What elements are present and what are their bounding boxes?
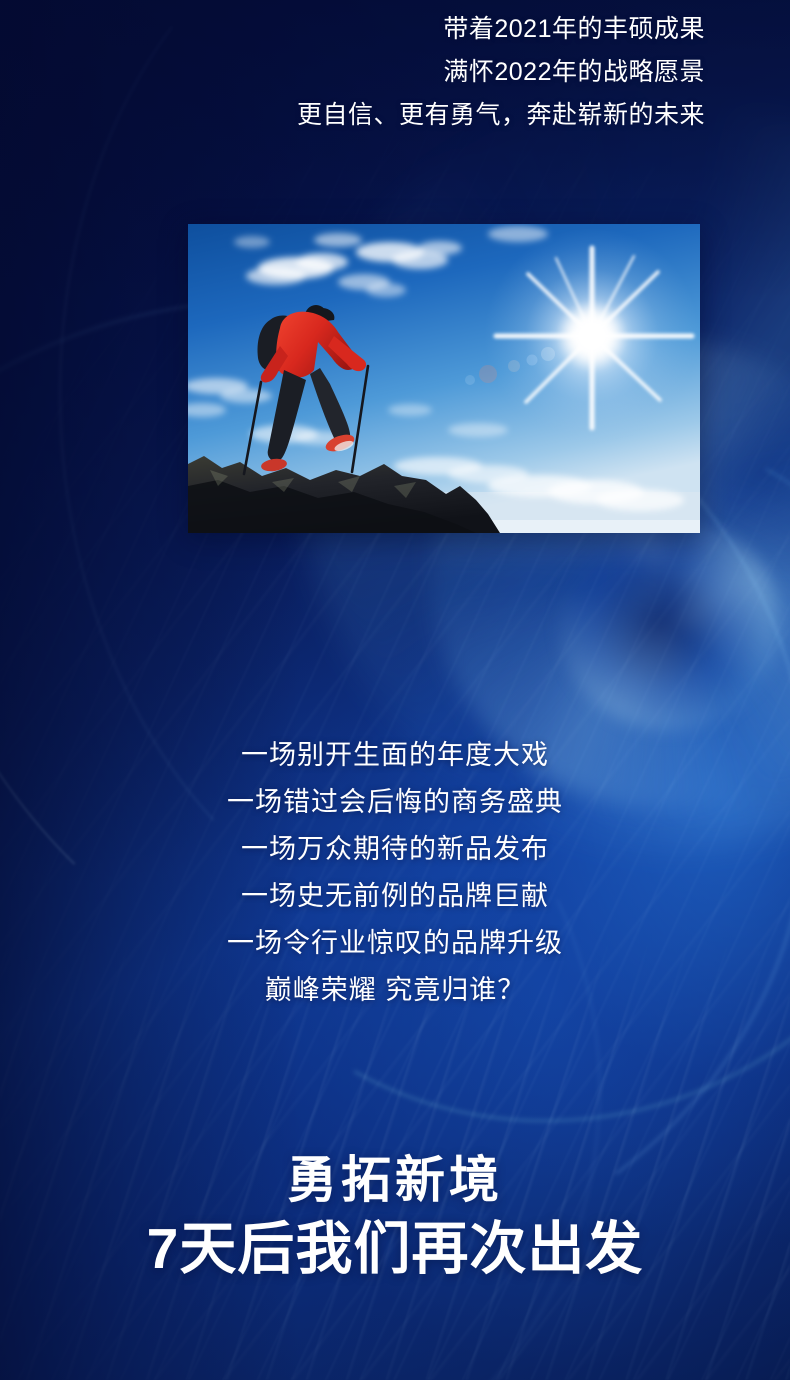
top-line-3: 更自信、更有勇气，奔赴崭新的未来 (297, 94, 705, 137)
headline-line-2: 7天后我们再次出发 (0, 1212, 790, 1286)
mid-line-2: 一场错过会后悔的商务盛典 (0, 779, 790, 826)
hiker-on-summit-photo (188, 224, 700, 533)
headline-line-1: 勇拓新境 (0, 1148, 790, 1212)
middle-text-block: 一场别开生面的年度大戏 一场错过会后悔的商务盛典 一场万众期待的新品发布 一场史… (0, 732, 790, 1014)
mid-line-5: 一场令行业惊叹的品牌升级 (0, 920, 790, 967)
poster-canvas: 带着2021年的丰硕成果 满怀2022年的战略愿景 更自信、更有勇气，奔赴崭新的… (0, 0, 790, 1380)
mid-line-4: 一场史无前例的品牌巨献 (0, 873, 790, 920)
mid-line-3: 一场万众期待的新品发布 (0, 826, 790, 873)
mid-line-6: 巅峰荣耀 究竟归谁？ (0, 967, 790, 1014)
top-text-block: 带着2021年的丰硕成果 满怀2022年的战略愿景 更自信、更有勇气，奔赴崭新的… (297, 8, 705, 137)
top-line-2: 满怀2022年的战略愿景 (297, 51, 705, 94)
top-line-1: 带着2021年的丰硕成果 (297, 8, 705, 51)
headline-block: 勇拓新境 7天后我们再次出发 (0, 1148, 790, 1286)
photo-artwork (188, 224, 700, 533)
mid-line-1: 一场别开生面的年度大戏 (0, 732, 790, 779)
